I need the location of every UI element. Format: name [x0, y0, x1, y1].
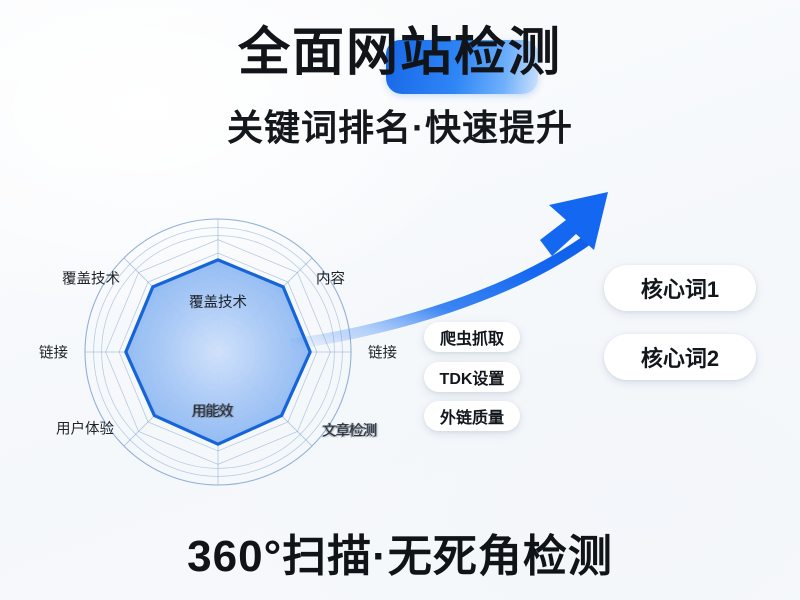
radar-axis-label-top: 覆盖技术 — [189, 291, 247, 312]
keyword-pill-1[interactable]: 核心词1 — [604, 265, 756, 311]
page-title: 全面网站检测 — [238, 26, 562, 81]
tag-pill-crawler[interactable]: 爬虫抓取 — [424, 322, 520, 352]
tag-pill-backlink[interactable]: 外链质量 — [424, 401, 520, 431]
page-subtitle: 关键词排名·快速提升 — [0, 99, 800, 151]
title-wrap: 全面网站检测 — [238, 26, 562, 81]
radar-axis-label-lower-right: 文章检测 — [322, 420, 376, 441]
footer-banner: 360°扫描·无死角检测 — [0, 520, 800, 584]
tag-pill-tdk[interactable]: TDK设置 — [424, 362, 520, 392]
radar-axis-label-lower-left: 用户体验 — [56, 418, 114, 439]
radar-axis-label-left: 链接 — [39, 342, 68, 363]
keyword-pill-2[interactable]: 核心词2 — [604, 334, 756, 380]
radar-axis-label-upper-left: 覆盖技术 — [62, 268, 120, 289]
header: 全面网站检测 关键词排名·快速提升 — [0, 26, 800, 151]
radar-axis-label-bottom: 用能效 — [192, 400, 233, 421]
